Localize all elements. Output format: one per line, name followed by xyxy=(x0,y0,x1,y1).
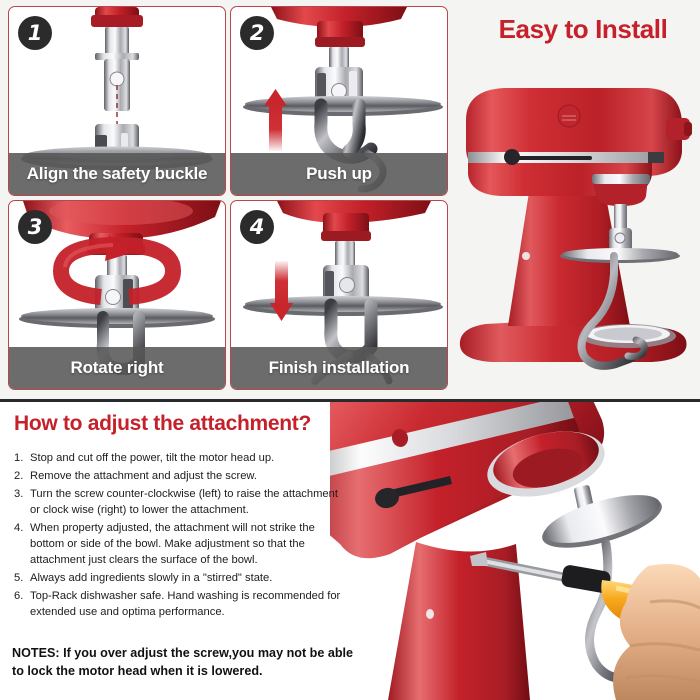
step-number-badge: 2 xyxy=(240,16,274,50)
install-step-panel-3: 3 Rotate right xyxy=(8,200,226,390)
step-caption-bar: Align the safety buckle xyxy=(9,153,225,195)
step-caption-bar: Push up xyxy=(231,153,447,195)
step-caption-label: Align the safety buckle xyxy=(27,164,208,184)
page-title-easy-install: Easy to Install xyxy=(470,14,696,45)
install-steps-grid: 1 Align the safety buckle xyxy=(8,6,448,394)
list-item: 5. Always add ingredients slowly in a "s… xyxy=(14,570,344,586)
install-step-panel-4: 4 Finish installation xyxy=(230,200,448,390)
list-item-number: 5. xyxy=(14,570,23,586)
install-step-panel-2: 2 Push up xyxy=(230,6,448,196)
list-item: 4. When property adjusted, the attachmen… xyxy=(14,520,344,569)
step-caption-bar: Rotate right xyxy=(9,347,225,389)
step-caption-label: Push up xyxy=(306,164,372,184)
step-number-badge: 4 xyxy=(240,210,274,244)
step-caption-label: Finish installation xyxy=(269,358,410,378)
notes-text: NOTES: If you over adjust the screw,you … xyxy=(12,644,364,680)
list-item-number: 2. xyxy=(14,468,23,484)
list-item-text: Stop and cut off the power, tilt the mot… xyxy=(30,452,274,464)
list-item: 2. Remove the attachment and adjust the … xyxy=(14,468,344,484)
install-step-panel-1: 1 Align the safety buckle xyxy=(8,6,226,196)
list-item-number: 4. xyxy=(14,520,23,536)
list-item-text: Turn the screw counter-clockwise (left) … xyxy=(30,488,338,516)
page-title-how-to-adjust: How to adjust the attachment? xyxy=(14,412,311,436)
step-number-badge: 1 xyxy=(18,16,52,50)
stand-mixer-photo xyxy=(452,78,694,378)
list-item-number: 3. xyxy=(14,486,23,502)
list-item: 1. Stop and cut off the power, tilt the … xyxy=(14,450,344,466)
list-item-text: Top-Rack dishwasher safe. Hand washing i… xyxy=(30,590,340,618)
step-caption-label: Rotate right xyxy=(71,358,164,378)
step-caption-bar: Finish installation xyxy=(231,347,447,389)
list-item: 6. Top-Rack dishwasher safe. Hand washin… xyxy=(14,588,344,621)
step-number-badge: 3 xyxy=(18,210,52,244)
list-item: 3. Turn the screw counter-clockwise (lef… xyxy=(14,486,344,519)
adjust-screw-photo xyxy=(330,402,700,700)
list-item-text: When property adjusted, the attachment w… xyxy=(30,522,315,567)
list-item-text: Remove the attachment and adjust the scr… xyxy=(30,470,257,482)
easy-to-install-section: Easy to Install xyxy=(0,0,700,400)
list-item-number: 1. xyxy=(14,450,23,466)
list-item-number: 6. xyxy=(14,588,23,604)
adjust-instructions-list: 1. Stop and cut off the power, tilt the … xyxy=(14,450,344,622)
product-instruction-page: Easy to Install xyxy=(0,0,700,700)
list-item-text: Always add ingredients slowly in a "stir… xyxy=(30,572,272,584)
